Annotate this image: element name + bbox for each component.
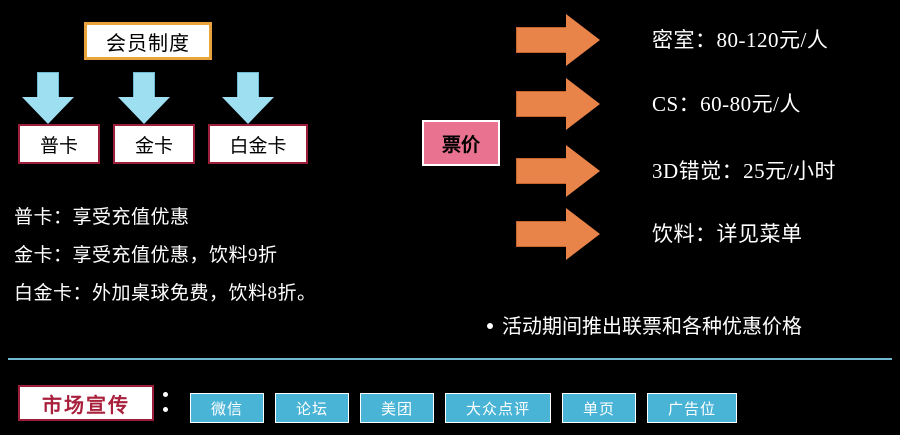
channel-chip-wechat[interactable]: 微信 [190, 393, 264, 423]
right-arrow-icon [516, 208, 600, 260]
arrow-head [566, 78, 600, 130]
membership-description-line: 金卡：享受充值优惠，饮料9折 [14, 240, 278, 267]
bullet-dot-icon [487, 323, 493, 329]
promotion-note-text: 活动期间推出联票和各种优惠价格 [502, 316, 802, 338]
channel-chip-label: 单页 [583, 398, 615, 419]
arrow-head [222, 97, 274, 124]
channel-chip-label: 论坛 [296, 398, 328, 419]
membership-description-line: 白金卡：外加桌球免费，饮料8折。 [14, 278, 317, 305]
card-tier-basic: 普卡 [18, 124, 100, 164]
divider [8, 358, 892, 360]
down-arrow-icon [222, 72, 274, 124]
down-arrow-icon [22, 72, 74, 124]
arrow-shaft [516, 221, 568, 247]
marketing-label-text: 市场宣传 [42, 389, 130, 418]
arrow-head [566, 208, 600, 260]
down-arrow-icon [118, 72, 170, 124]
card-tier-platinum: 白金卡 [208, 124, 308, 164]
arrow-shaft [516, 158, 568, 184]
arrow-head [566, 14, 600, 66]
arrow-shaft [516, 91, 568, 117]
right-arrow-icon [516, 145, 600, 197]
arrow-head [22, 97, 74, 124]
colon-dot-lower [163, 407, 168, 412]
card-tier-label: 金卡 [135, 131, 173, 158]
channel-chip-label: 美团 [381, 398, 413, 419]
price-item-text: 3D错觉：25元/小时 [652, 155, 836, 185]
channel-chip-flyer[interactable]: 单页 [562, 393, 636, 423]
arrow-head [566, 145, 600, 197]
card-tier-label: 白金卡 [229, 131, 286, 158]
price-item-text: CS：60-80元/人 [652, 88, 801, 118]
channel-chip-dianping[interactable]: 大众点评 [445, 393, 551, 423]
right-arrow-icon [516, 78, 600, 130]
promotion-note: 活动期间推出联票和各种优惠价格 [487, 310, 802, 339]
ticket-price-label: 票价 [422, 120, 500, 166]
channel-chip-label: 广告位 [668, 398, 716, 419]
channel-chip-ad-space[interactable]: 广告位 [647, 393, 737, 423]
channel-chip-label: 大众点评 [466, 398, 530, 419]
ticket-price-text: 票价 [442, 130, 480, 157]
slide-canvas: 会员制度 普卡 金卡 白金卡 普卡：享受充值优惠 金卡：享受充值优惠，饮料9折 … [0, 0, 900, 435]
arrow-shaft [37, 72, 59, 98]
arrow-shaft [133, 72, 155, 98]
membership-description-line: 普卡：享受充值优惠 [14, 202, 190, 229]
marketing-label: 市场宣传 [18, 385, 154, 421]
channel-chip-meituan[interactable]: 美团 [360, 393, 434, 423]
price-item-text: 密室：80-120元/人 [652, 24, 828, 54]
channel-chip-label: 微信 [211, 398, 243, 419]
card-tier-label: 普卡 [40, 131, 78, 158]
arrow-shaft [237, 72, 259, 98]
membership-title-label: 会员制度 [106, 27, 190, 56]
arrow-head [118, 97, 170, 124]
price-item-text: 饮料：详见菜单 [652, 218, 803, 248]
membership-title-box: 会员制度 [84, 22, 212, 60]
colon-dot-upper [163, 392, 168, 397]
colon-icon [163, 392, 169, 414]
arrow-shaft [516, 27, 568, 53]
right-arrow-icon [516, 14, 600, 66]
card-tier-gold: 金卡 [113, 124, 195, 164]
channel-chip-forum[interactable]: 论坛 [275, 393, 349, 423]
